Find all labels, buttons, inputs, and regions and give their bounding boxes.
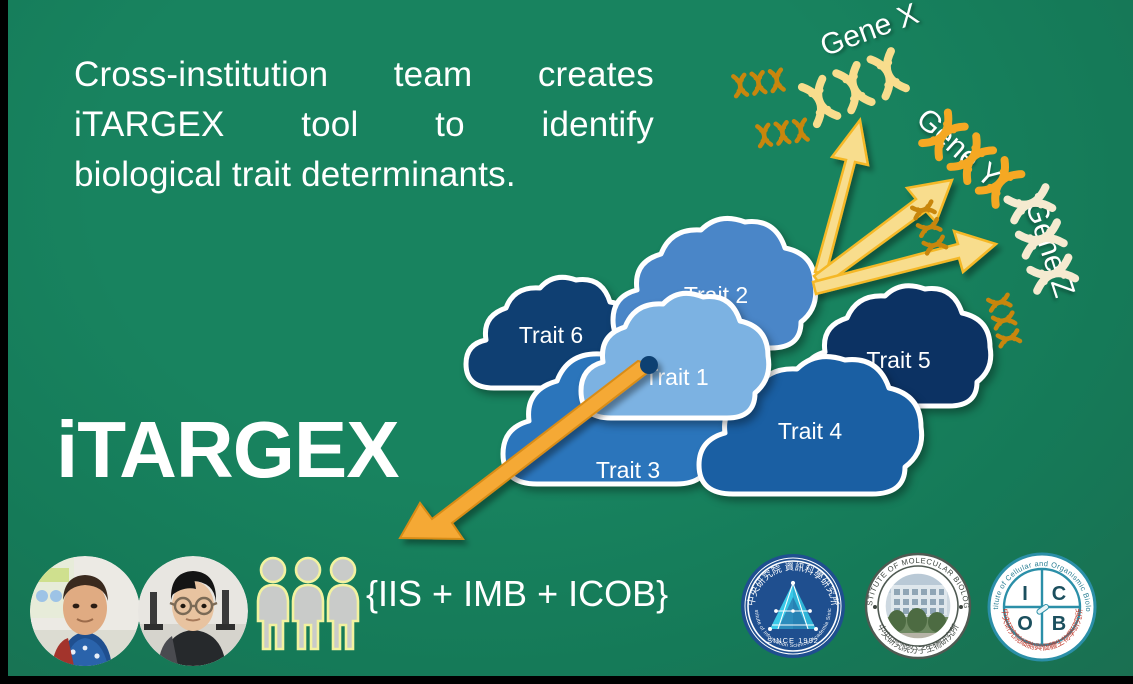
iis-logo[interactable]: 中央研究院 資訊科學研究所 Institute of Information S… [738, 551, 848, 661]
dna-helix-small-1-icon [727, 64, 789, 102]
svg-text:I: I [1022, 583, 1028, 605]
headline-line-1: Cross-institution team creates [74, 50, 654, 100]
svg-text:SINCE 1982: SINCE 1982 [767, 636, 819, 645]
team-member-photo-2 [138, 556, 248, 666]
svg-text:B: B [1052, 613, 1066, 635]
svg-text:C: C [1052, 583, 1066, 605]
imb-logo[interactable]: INSTITUTE OF MOLECULAR BIOLOGY 中央研究院分子生物… [863, 551, 973, 661]
institutions-label: {IIS + IMB + ICOB} [366, 573, 668, 615]
dna-helix-small-3-icon [906, 196, 952, 259]
team-member-photo-1 [30, 556, 140, 666]
headline-line-2: iTARGEX tool to identify [74, 100, 654, 150]
svg-text:O: O [1017, 613, 1033, 635]
headline-line-3: biological trait determinants. [74, 150, 654, 200]
dna-helix-gene-z-icon [995, 176, 1086, 299]
cloud-trait-1[interactable]: Trait 1 [569, 285, 784, 430]
dna-helix-small-2-icon [751, 114, 813, 152]
headline: Cross-institution team creates iTARGEX t… [74, 50, 654, 200]
team-people-icon [253, 555, 363, 656]
icob-logo[interactable]: Institute of Cellular and Organismic Bio… [986, 551, 1098, 663]
page-title: iTARGEX [56, 404, 399, 496]
slide-canvas: Cross-institution team creates iTARGEX t… [8, 0, 1133, 676]
